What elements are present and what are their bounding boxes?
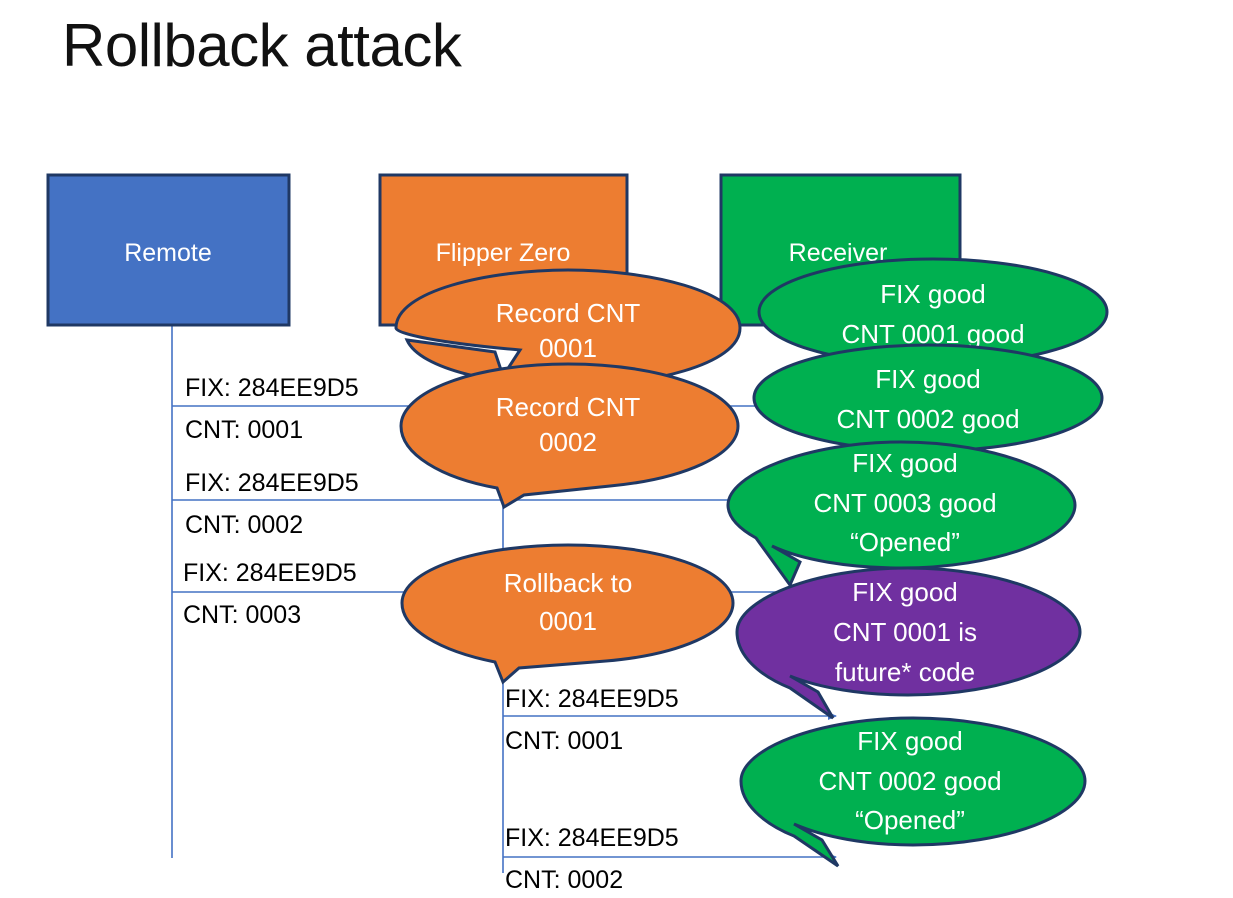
actor-label-remote: Remote [124, 239, 212, 267]
flipper-bubble-3-line-2: 0001 [539, 606, 597, 636]
receiver-bubble-5-line-1: FIX good [857, 726, 963, 756]
receiver-bubble-4[interactable]: FIX good CNT 0001 is future* code [737, 568, 1080, 718]
receiver-bubble-3-line-3: “Opened” [850, 527, 960, 557]
message-m2-cnt: CNT: 0002 [185, 511, 303, 539]
receiver-bubble-2[interactable]: FIX good CNT 0002 good [754, 345, 1102, 451]
message-m5-fix: FIX: 284EE9D5 [505, 824, 679, 852]
message-m3-fix: FIX: 284EE9D5 [183, 559, 357, 587]
receiver-bubble-5[interactable]: FIX good CNT 0002 good “Opened” [741, 718, 1085, 866]
receiver-bubble-5-line-3: “Opened” [855, 805, 965, 835]
flipper-bubble-1-line-1: Record CNT [496, 298, 641, 328]
message-label-m1: FIX: 284EE9D5 CNT: 0001 [185, 374, 359, 444]
message-m3-cnt: CNT: 0003 [183, 601, 301, 629]
slide-canvas: Rollback attack Remote Flipper Zero Rece… [0, 0, 1233, 898]
receiver-bubble-2-line-1: FIX good [875, 364, 981, 394]
receiver-bubble-4-line-1: FIX good [852, 577, 958, 607]
receiver-bubble-5-line-2: CNT 0002 good [818, 766, 1001, 796]
message-m1-fix: FIX: 284EE9D5 [185, 374, 359, 402]
receiver-bubble-3[interactable]: FIX good CNT 0003 good “Opened” [728, 442, 1075, 585]
message-m4-fix: FIX: 284EE9D5 [505, 685, 679, 713]
message-label-m4: FIX: 284EE9D5 CNT: 0001 [505, 685, 679, 755]
sequence-diagram: Remote Flipper Zero Receiver Record CNT … [0, 0, 1233, 898]
message-m4-cnt: CNT: 0001 [505, 727, 623, 755]
flipper-bubble-1-line-2: 0001 [539, 333, 597, 363]
message-label-m3: FIX: 284EE9D5 CNT: 0003 [183, 559, 357, 629]
message-label-m5: FIX: 284EE9D5 CNT: 0002 [505, 824, 679, 894]
actor-label-flipper: Flipper Zero [436, 239, 571, 267]
flipper-bubble-3-line-1: Rollback to [504, 568, 633, 598]
actor-box-remote[interactable]: Remote [48, 175, 289, 325]
receiver-bubble-2-line-2: CNT 0002 good [836, 404, 1019, 434]
message-m2-fix: FIX: 284EE9D5 [185, 469, 359, 497]
flipper-bubble-2[interactable]: Record CNT 0002 [401, 364, 738, 507]
receiver-bubble-4-line-3: future* code [835, 657, 975, 687]
flipper-bubble-2-line-1: Record CNT [496, 392, 641, 422]
message-label-m2: FIX: 284EE9D5 CNT: 0002 [185, 469, 359, 539]
flipper-bubble-2-line-2: 0002 [539, 427, 597, 457]
receiver-bubble-3-line-1: FIX good [852, 448, 958, 478]
receiver-bubble-3-line-2: CNT 0003 good [813, 488, 996, 518]
receiver-bubble-1-line-1: FIX good [880, 279, 986, 309]
message-m5-cnt: CNT: 0002 [505, 866, 623, 894]
message-m1-cnt: CNT: 0001 [185, 416, 303, 444]
flipper-bubble-3[interactable]: Rollback to 0001 [402, 545, 733, 682]
receiver-bubble-4-line-2: CNT 0001 is [833, 617, 977, 647]
